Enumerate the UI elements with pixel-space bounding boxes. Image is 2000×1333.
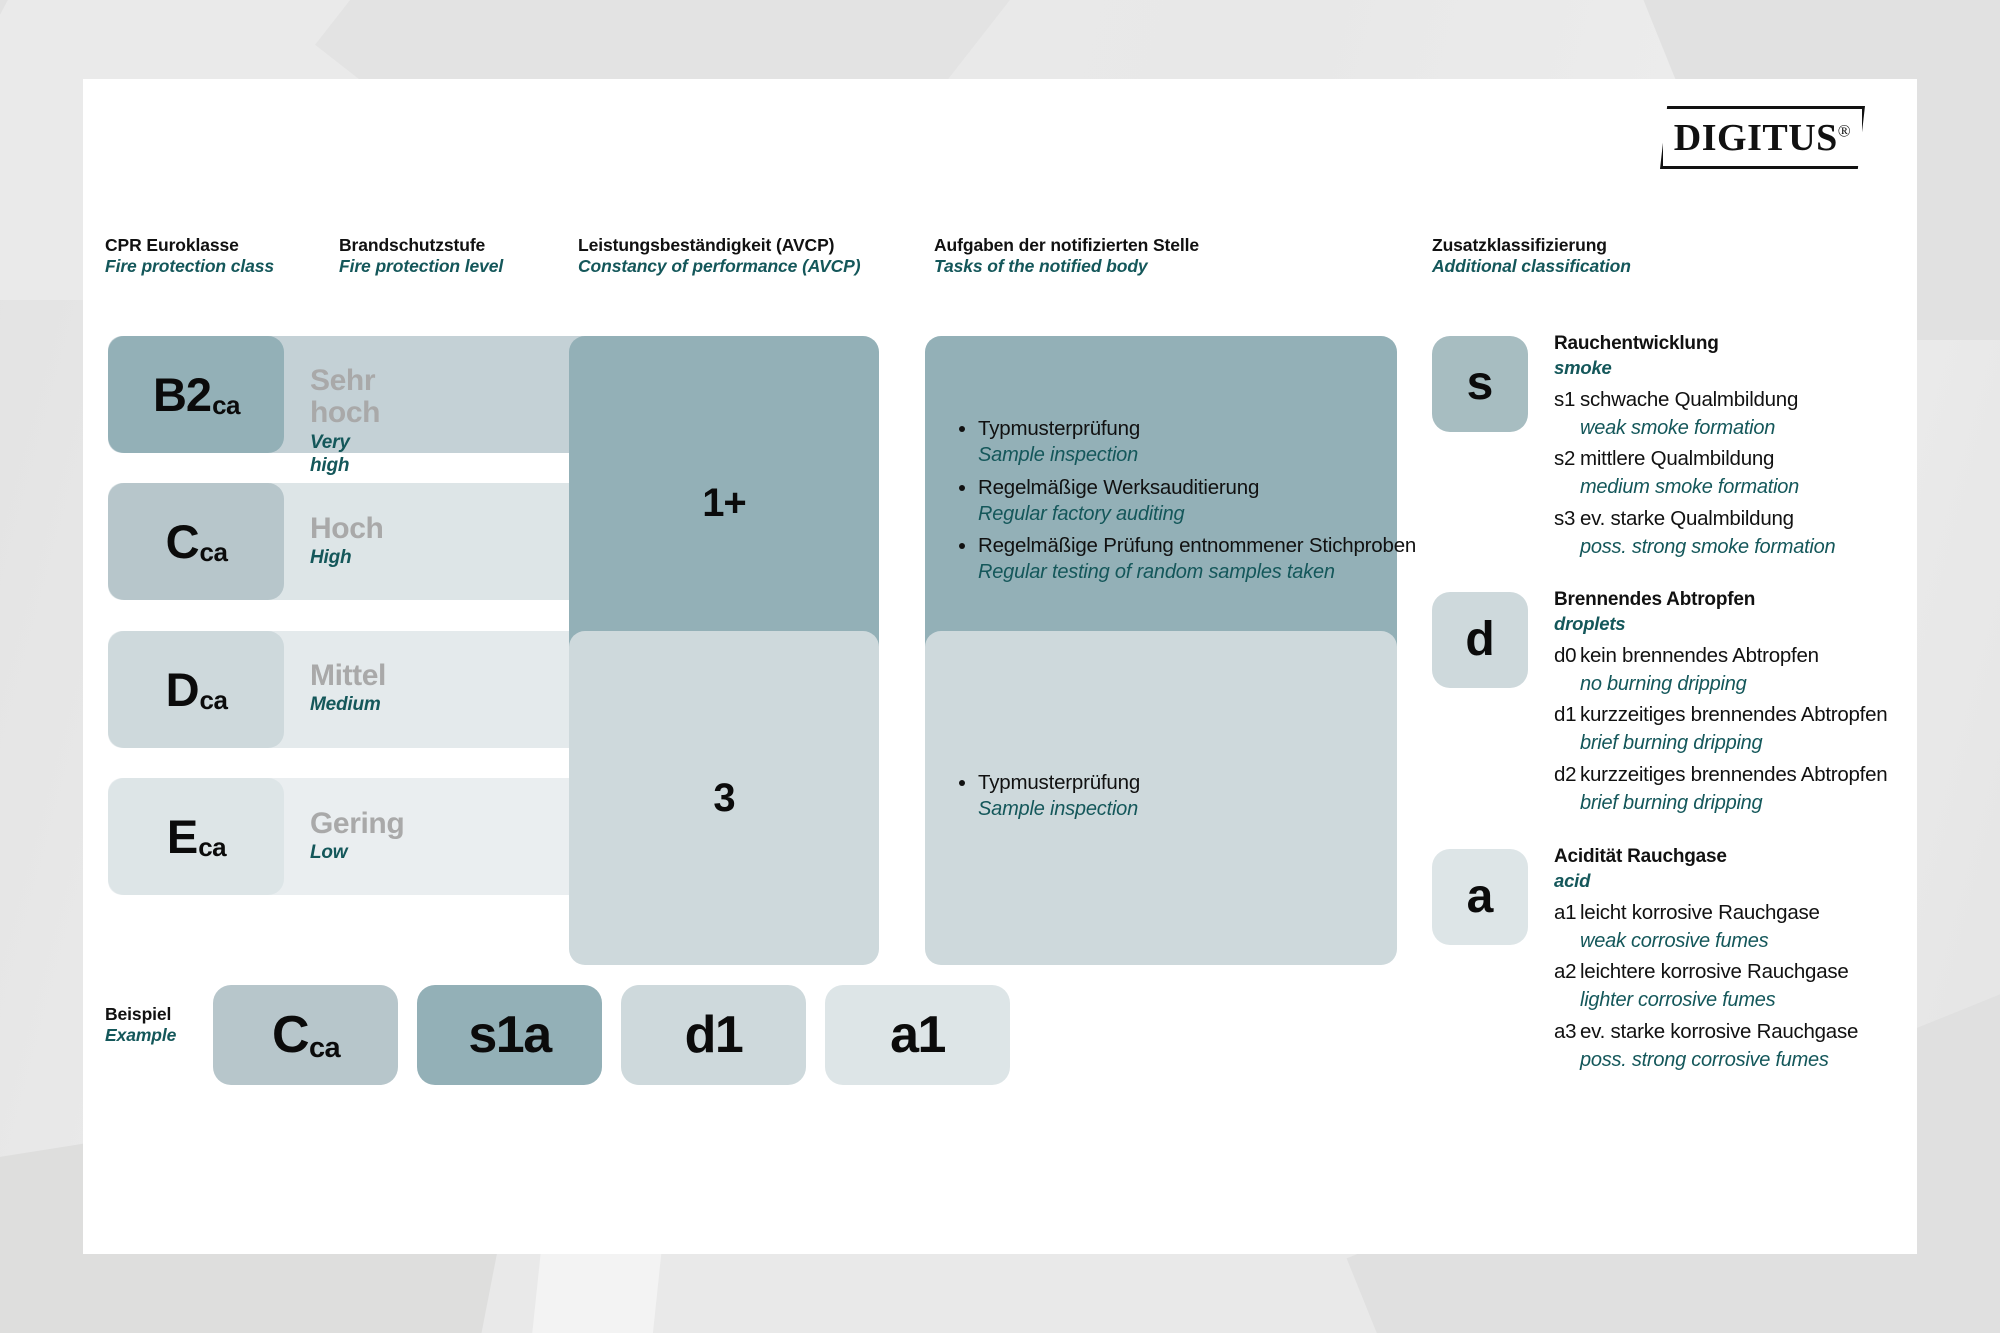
classification-body-smoke: Rauchentwicklung smoke s1schwache Qualmb…: [1554, 332, 1835, 563]
column-header-en: Constancy of performance (AVCP): [578, 256, 860, 277]
column-header-en: Additional classification: [1432, 256, 1631, 277]
classification-entry-de: a2leichtere korrosive Rauchgase: [1554, 957, 1858, 986]
classification-title-en: smoke: [1554, 356, 1835, 379]
task-en: Regular testing of random samples taken: [978, 559, 1371, 585]
classification-entry-key: s1: [1554, 385, 1580, 414]
tasks-list: Typmusterprüfung Sample inspection Regel…: [959, 415, 1371, 590]
task-en: Sample inspection: [978, 796, 1371, 822]
classification-title-en: droplets: [1554, 612, 1887, 635]
column-header-notified-body-tasks: Aufgaben der notifizierten Stelle Tasks …: [934, 235, 1199, 278]
classification-title-en: acid: [1554, 869, 1858, 892]
level-en: Low: [310, 842, 404, 865]
task-item: Typmusterprüfung Sample inspection: [959, 415, 1371, 468]
example-badge-smoke[interactable]: s1a: [417, 985, 602, 1085]
level-label-low: Gering Low: [310, 808, 404, 865]
classification-entry-text: kein brennendes Abtropfen: [1580, 644, 1819, 667]
task-en: Sample inspection: [978, 442, 1371, 468]
example-code: a1: [890, 1009, 945, 1061]
column-header-fire-protection-level: Brandschutzstufe Fire protection level: [339, 235, 503, 278]
avcp-value: 1+: [702, 481, 746, 526]
class-code: D: [166, 666, 199, 713]
example-label-de: Beispiel: [105, 1004, 176, 1025]
level-de: Sehr hoch: [310, 365, 380, 430]
classification-entry-en: medium smoke formation: [1554, 473, 1835, 501]
classification-entry-en: brief burning dripping: [1554, 729, 1887, 757]
example-code: d1: [685, 1009, 743, 1061]
classification-entry-key: a1: [1554, 898, 1580, 927]
classification-entry-text: mittlere Qualmbildung: [1580, 447, 1774, 470]
column-header-en: Fire protection level: [339, 256, 503, 277]
tasks-list: Typmusterprüfung Sample inspection: [959, 769, 1371, 827]
column-header-additional-classification: Zusatzklassifizierung Additional classif…: [1432, 235, 1631, 278]
level-en: Very high: [310, 432, 380, 478]
classification-entry-de: s2mittlere Qualmbildung: [1554, 444, 1835, 473]
column-header-de: CPR Euroklasse: [105, 235, 274, 256]
task-de: Regelmäßige Werksauditierung: [978, 474, 1371, 501]
class-subscript: ca: [200, 685, 228, 716]
avcp-block-1plus[interactable]: 1+: [569, 336, 879, 670]
column-header-de: Aufgaben der notifizierten Stelle: [934, 235, 1199, 256]
column-header-de: Zusatzklassifizierung: [1432, 235, 1631, 256]
level-en: Medium: [310, 694, 386, 717]
level-de: Mittel: [310, 660, 386, 692]
info-card: DIGITUS® CPR Euroklasse Fire protection …: [83, 79, 1917, 1254]
classification-entry-key: d2: [1554, 760, 1580, 789]
classification-entry-en: no burning dripping: [1554, 670, 1887, 698]
class-badge-e[interactable]: Eca: [108, 778, 284, 895]
classification-entry-en: weak smoke formation: [1554, 414, 1835, 442]
example-code: C: [272, 1009, 308, 1061]
classification-badge-s[interactable]: s: [1432, 336, 1528, 432]
column-header-avcp: Leistungsbeständigkeit (AVCP) Constancy …: [578, 235, 860, 278]
classification-title-de: Brennendes Abtropfen: [1554, 588, 1887, 612]
classification-entry-key: s2: [1554, 444, 1580, 473]
class-badge-d[interactable]: Dca: [108, 631, 284, 748]
column-header-de: Leistungsbeständigkeit (AVCP): [578, 235, 860, 256]
classification-title-de: Rauchentwicklung: [1554, 332, 1835, 356]
example-badge-acid[interactable]: a1: [825, 985, 1010, 1085]
column-header-fire-protection-class: CPR Euroklasse Fire protection class: [105, 235, 274, 278]
classification-entry-key: a3: [1554, 1017, 1580, 1046]
classification-entry-de: d1kurzzeitiges brennendes Abtropfen: [1554, 700, 1887, 729]
classification-entry-de: d0kein brennendes Abtropfen: [1554, 641, 1887, 670]
classification-body-droplets: Brennendes Abtropfen droplets d0kein bre…: [1554, 588, 1887, 819]
classification-entry-text: leicht korrosive Rauchgase: [1580, 901, 1820, 924]
task-item: Typmusterprüfung Sample inspection: [959, 769, 1371, 822]
classification-entry-en: weak corrosive fumes: [1554, 927, 1858, 955]
example-code: s1a: [468, 1009, 550, 1061]
classification-entry-en: poss. strong smoke formation: [1554, 533, 1835, 561]
classification-entry-de: a3ev. starke korrosive Rauchgase: [1554, 1017, 1858, 1046]
column-header-en: Fire protection class: [105, 256, 274, 277]
classification-entry-text: ev. starke Qualmbildung: [1580, 507, 1794, 530]
task-de: Typmusterprüfung: [978, 769, 1371, 796]
classification-letter: a: [1467, 873, 1494, 921]
example-badge-class[interactable]: Cca: [213, 985, 398, 1085]
classification-entry-text: schwache Qualmbildung: [1580, 388, 1798, 411]
classification-entry-de: s1schwache Qualmbildung: [1554, 385, 1835, 414]
column-header-de: Brandschutzstufe: [339, 235, 503, 256]
example-label-en: Example: [105, 1025, 176, 1046]
classification-entry-text: kurzzeitiges brennendes Abtropfen: [1580, 763, 1887, 786]
classification-entry-de: s3ev. starke Qualmbildung: [1554, 504, 1835, 533]
classification-entry-text: kurzzeitiges brennendes Abtropfen: [1580, 703, 1887, 726]
class-badge-c[interactable]: Cca: [108, 483, 284, 600]
example-subscript: ca: [309, 1032, 340, 1065]
class-subscript: ca: [200, 537, 228, 568]
classification-entry-en: brief burning dripping: [1554, 789, 1887, 817]
tasks-block-avcp-3[interactable]: Typmusterprüfung Sample inspection: [925, 631, 1397, 965]
avcp-block-3[interactable]: 3: [569, 631, 879, 965]
task-en: Regular factory auditing: [978, 501, 1371, 527]
classification-entry-en: lighter corrosive fumes: [1554, 986, 1858, 1014]
level-en: High: [310, 547, 383, 570]
task-de: Regelmäßige Prüfung entnommener Stichpro…: [978, 532, 1371, 559]
level-de: Hoch: [310, 513, 383, 545]
task-item: Regelmäßige Werksauditierung Regular fac…: [959, 474, 1371, 527]
class-subscript: ca: [198, 832, 226, 863]
task-item: Regelmäßige Prüfung entnommener Stichpro…: [959, 532, 1371, 585]
tasks-block-avcp-1plus[interactable]: Typmusterprüfung Sample inspection Regel…: [925, 336, 1397, 670]
level-label-high: Hoch High: [310, 513, 383, 570]
classification-entry-key: s3: [1554, 504, 1580, 533]
classification-entry-key: d0: [1554, 641, 1580, 670]
task-de: Typmusterprüfung: [978, 415, 1371, 442]
example-label: Beispiel Example: [105, 1004, 176, 1047]
classification-badge-a[interactable]: a: [1432, 849, 1528, 945]
avcp-value: 3: [713, 776, 734, 821]
level-label-very-high: Sehr hoch Very high: [310, 365, 380, 477]
classification-entry-key: a2: [1554, 957, 1580, 986]
classification-entry-key: d1: [1554, 700, 1580, 729]
class-code: B2: [153, 371, 211, 418]
classification-letter: d: [1465, 616, 1494, 664]
classification-entry-de: d2kurzzeitiges brennendes Abtropfen: [1554, 760, 1887, 789]
classification-title-de: Acidität Rauchgase: [1554, 845, 1858, 869]
classification-entry-text: leichtere korrosive Rauchgase: [1580, 960, 1849, 983]
class-badge-b2[interactable]: B2ca: [108, 336, 284, 453]
classification-entry-en: poss. strong corrosive fumes: [1554, 1046, 1858, 1074]
level-label-medium: Mittel Medium: [310, 660, 386, 717]
class-code: E: [167, 813, 197, 860]
class-code: C: [166, 518, 199, 565]
classification-entry-de: a1leicht korrosive Rauchgase: [1554, 898, 1858, 927]
class-subscript: ca: [212, 390, 240, 421]
classification-letter: s: [1467, 360, 1494, 408]
classification-entry-text: ev. starke korrosive Rauchgase: [1580, 1020, 1858, 1043]
column-header-en: Tasks of the notified body: [934, 256, 1199, 277]
level-de: Gering: [310, 808, 404, 840]
classification-badge-d[interactable]: d: [1432, 592, 1528, 688]
classification-body-acid: Acidität Rauchgase acid a1leicht korrosi…: [1554, 845, 1858, 1076]
example-badge-droplets[interactable]: d1: [621, 985, 806, 1085]
